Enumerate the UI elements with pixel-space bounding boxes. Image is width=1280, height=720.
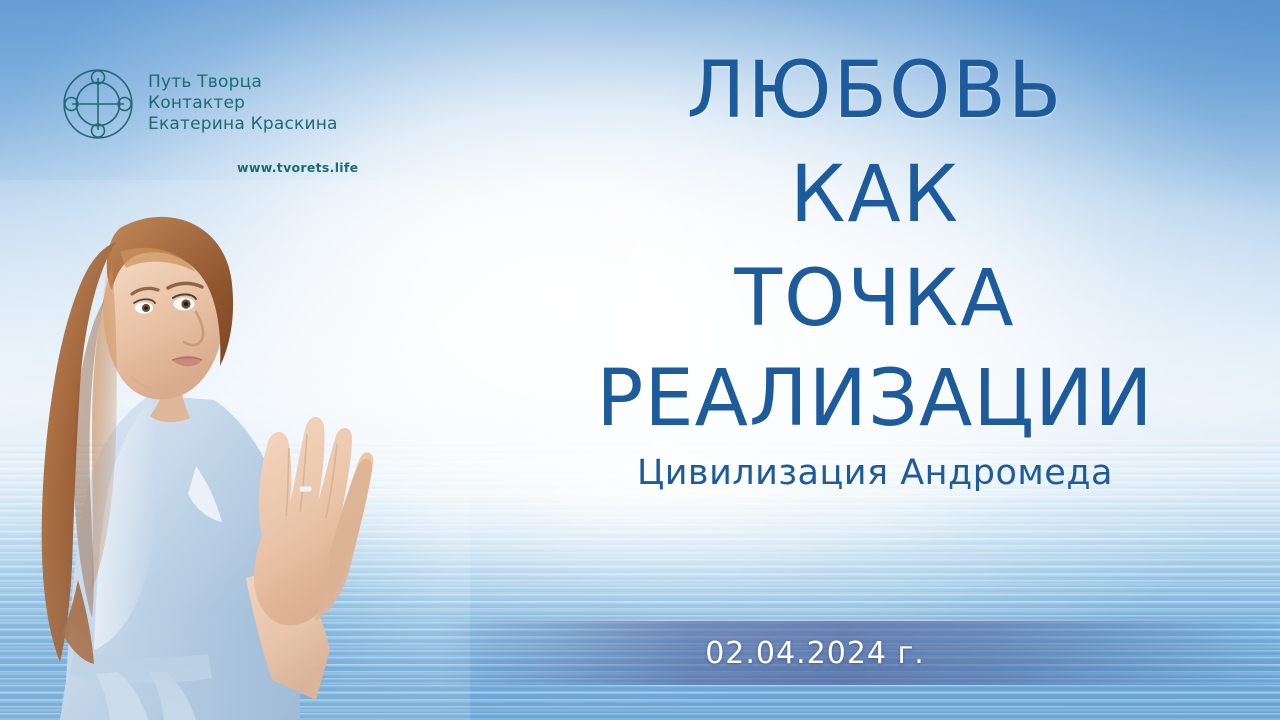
brand-logo-block: Путь Творца Контактер Екатерина Краскина bbox=[62, 68, 338, 140]
brand-line-3: Екатерина Краскина bbox=[148, 114, 338, 135]
date-band: 02.04.2024 г. bbox=[440, 620, 1280, 686]
date-text: 02.04.2024 г. bbox=[440, 620, 1280, 686]
brand-line-2: Контактер bbox=[148, 93, 338, 114]
brand-line-1: Путь Творца bbox=[148, 72, 338, 93]
brand-text: Путь Творца Контактер Екатерина Краскина bbox=[148, 68, 338, 135]
circle-cross-quartered-icon bbox=[62, 68, 134, 140]
website-url[interactable]: www.tvorets.life bbox=[237, 160, 358, 175]
presenter-photo bbox=[0, 180, 470, 720]
slide-canvas: Путь Творца Контактер Екатерина Краскина… bbox=[0, 0, 1280, 720]
